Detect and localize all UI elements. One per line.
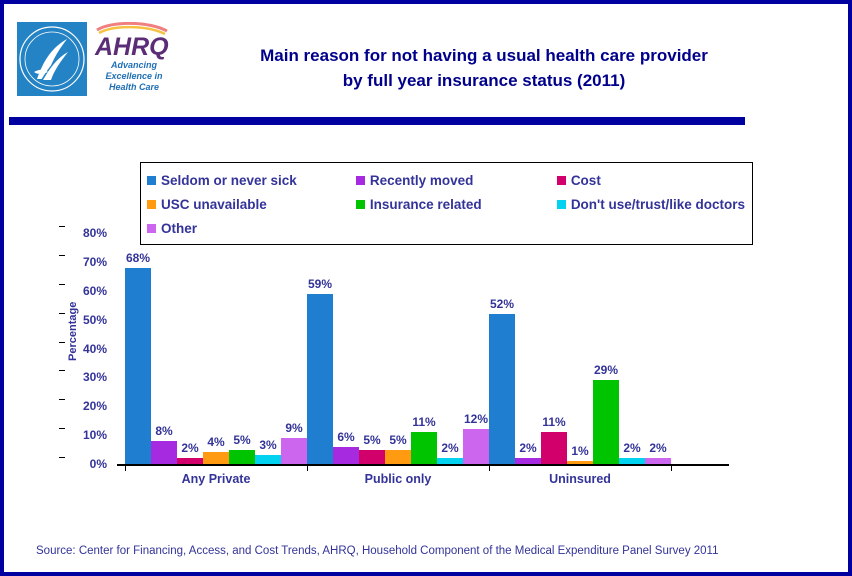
ahrq-tagline-line3: Health Care: [91, 82, 177, 93]
bar-group-0: 68%8%2%4%5%3%9%: [125, 233, 307, 464]
bar-value-label: 3%: [259, 438, 276, 452]
bar-value-label: 11%: [412, 415, 435, 429]
page-title-line2: by full year insurance status (2011): [179, 68, 789, 93]
bar[interactable]: 3%: [255, 455, 281, 464]
bar[interactable]: 4%: [203, 452, 229, 464]
y-axis-tick-label: 40%: [65, 342, 117, 356]
bar-chart: Seldom or never sickRecently movedCostUS…: [9, 129, 849, 499]
legend-row: USC unavailableInsurance relatedDon't us…: [147, 192, 748, 216]
y-axis-tick-mark: [59, 370, 65, 371]
bar-value-label: 2%: [181, 441, 198, 455]
y-axis-tick-mark: [59, 284, 65, 285]
page-title: Main reason for not having a usual healt…: [179, 43, 789, 93]
slide-inner: AHRQ Advancing Excellence in Health Care…: [8, 8, 848, 572]
legend-swatch-icon: [557, 200, 566, 209]
legend-item-4[interactable]: Insurance related: [356, 197, 557, 212]
legend-label: Don't use/trust/like doctors: [571, 197, 745, 212]
bar-value-label: 29%: [594, 363, 618, 377]
y-axis-tick-label: 30%: [65, 370, 117, 384]
x-axis-category-label: Public only: [307, 472, 489, 486]
legend-swatch-icon: [356, 200, 365, 209]
bar-value-label: 12%: [464, 412, 488, 426]
bar[interactable]: 59%: [307, 294, 333, 464]
y-axis-tick-label: 60%: [65, 284, 117, 298]
legend-item-2[interactable]: Cost: [557, 173, 748, 188]
ahrq-tagline-line2: Excellence in: [91, 71, 177, 82]
y-axis-tick-label: 50%: [65, 313, 117, 327]
bar[interactable]: 11%: [541, 432, 567, 464]
y-axis-tick-label: 70%: [65, 255, 117, 269]
bar-value-label: 2%: [623, 441, 640, 455]
page-title-line1: Main reason for not having a usual healt…: [179, 43, 789, 68]
header: AHRQ Advancing Excellence in Health Care…: [9, 9, 849, 114]
bar-value-label: 9%: [285, 421, 302, 435]
bar-value-label: 5%: [389, 433, 406, 447]
legend-label: Recently moved: [370, 173, 474, 188]
legend-row: Seldom or never sickRecently movedCost: [147, 168, 748, 192]
bar-value-label: 2%: [441, 441, 458, 455]
agency-logo: AHRQ Advancing Excellence in Health Care: [17, 22, 177, 102]
bar-value-label: 11%: [542, 415, 565, 429]
bar-value-label: 5%: [233, 433, 250, 447]
bar-value-label: 6%: [337, 430, 354, 444]
legend-swatch-icon: [147, 224, 156, 233]
y-axis-tick-mark: [59, 342, 65, 343]
legend-item-3[interactable]: USC unavailable: [147, 197, 356, 212]
bar[interactable]: 5%: [385, 450, 411, 464]
bar[interactable]: 8%: [151, 441, 177, 464]
ahrq-tagline-line1: Advancing: [91, 60, 177, 71]
ahrq-tagline: Advancing Excellence in Health Care: [91, 60, 177, 93]
bar-value-label: 2%: [649, 441, 666, 455]
bar-value-label: 68%: [126, 251, 150, 265]
bar-value-label: 2%: [519, 441, 536, 455]
x-axis-category-label: Any Private: [125, 472, 307, 486]
legend-label: Seldom or never sick: [161, 173, 297, 188]
legend-swatch-icon: [147, 200, 156, 209]
source-note: Source: Center for Financing, Access, an…: [36, 545, 719, 557]
ahrq-wordmark: AHRQ Advancing Excellence in Health Care: [91, 22, 177, 100]
bar[interactable]: 5%: [359, 450, 385, 464]
bar-group-2: 52%2%11%1%29%2%2%: [489, 233, 671, 464]
plot-area: 80%70%60%50%40%30%20%10%0%68%8%2%4%5%3%9…: [117, 233, 727, 464]
legend-swatch-icon: [557, 176, 566, 185]
bar-value-label: 59%: [308, 277, 332, 291]
bar[interactable]: 5%: [229, 450, 255, 464]
y-axis-tick-mark: [59, 428, 65, 429]
legend-item-5[interactable]: Don't use/trust/like doctors: [557, 197, 748, 212]
y-axis-tick-mark: [59, 399, 65, 400]
y-axis-tick-label: 0%: [65, 457, 117, 471]
legend-label: Cost: [571, 173, 601, 188]
x-axis-category-label: Uninsured: [489, 472, 671, 486]
bar-value-label: 5%: [363, 433, 380, 447]
y-axis-tick-label: 80%: [65, 226, 117, 240]
y-axis-tick-mark: [59, 457, 65, 458]
y-axis-tick-label: 10%: [65, 428, 117, 442]
bar-value-label: 52%: [490, 297, 514, 311]
bar-value-label: 8%: [155, 424, 172, 438]
bar-value-label: 4%: [207, 435, 224, 449]
legend-item-0[interactable]: Seldom or never sick: [147, 173, 356, 188]
bar[interactable]: 29%: [593, 380, 619, 464]
svg-text:AHRQ: AHRQ: [94, 33, 169, 61]
legend-item-1[interactable]: Recently moved: [356, 173, 557, 188]
legend-swatch-icon: [356, 176, 365, 185]
bar[interactable]: 68%: [125, 268, 151, 464]
legend-label: USC unavailable: [161, 197, 267, 212]
bar[interactable]: 12%: [463, 429, 489, 464]
bar-group-1: 59%6%5%5%11%2%12%: [307, 233, 489, 464]
bar-value-label: 1%: [571, 444, 588, 458]
legend-swatch-icon: [147, 176, 156, 185]
y-axis-tick-mark: [59, 226, 65, 227]
legend-label: Insurance related: [370, 197, 482, 212]
bar[interactable]: 52%: [489, 314, 515, 464]
bar[interactable]: 6%: [333, 447, 359, 464]
header-divider: [9, 117, 745, 125]
y-axis-tick-mark: [59, 313, 65, 314]
slide-page: AHRQ Advancing Excellence in Health Care…: [0, 0, 852, 576]
x-axis-line: [117, 464, 729, 466]
hhs-seal-icon: [17, 22, 87, 96]
y-axis-tick-label: 20%: [65, 399, 117, 413]
y-axis-tick-mark: [59, 255, 65, 256]
bar[interactable]: 11%: [411, 432, 437, 464]
bar[interactable]: 9%: [281, 438, 307, 464]
